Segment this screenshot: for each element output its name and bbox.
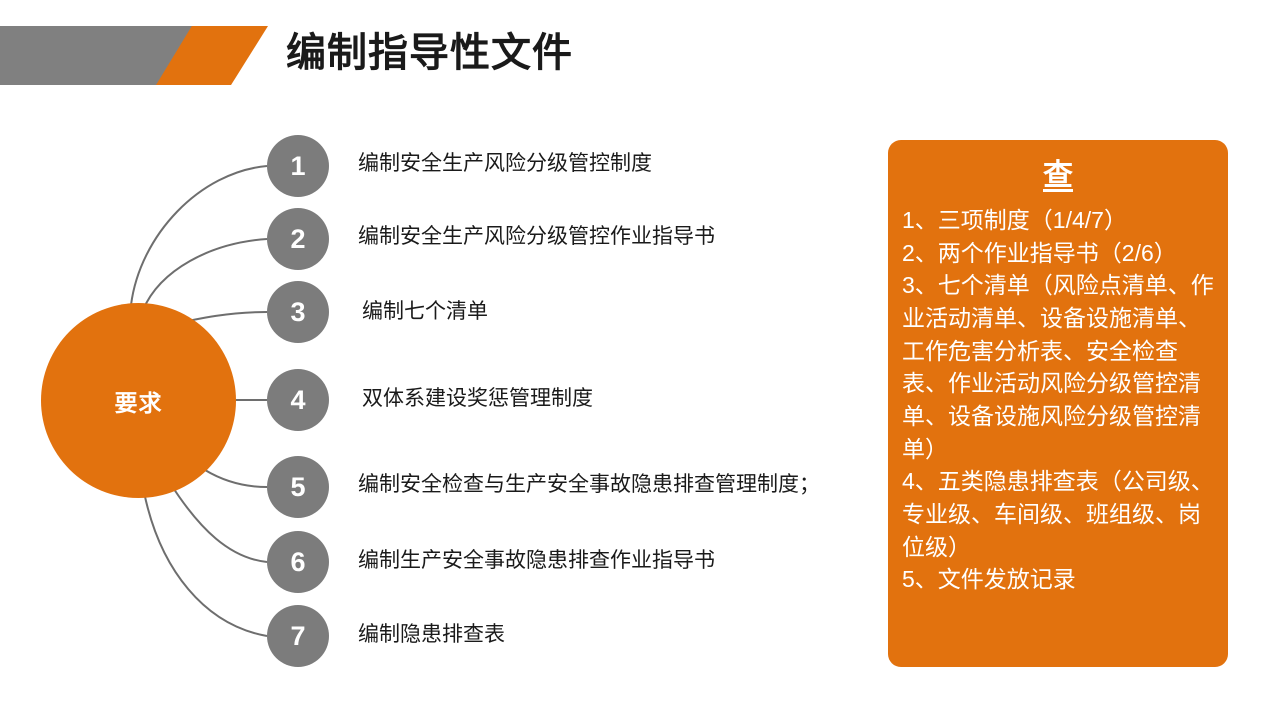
mindmap-node-circle[interactable]: 7 (267, 605, 329, 667)
mindmap-node-number: 5 (290, 474, 305, 501)
mindmap-hub-label: 要求 (115, 384, 163, 418)
connector-1 (131, 166, 267, 305)
mindmap-node-circle[interactable]: 1 (267, 135, 329, 197)
mindmap-node-circle[interactable]: 2 (267, 208, 329, 270)
mindmap-node-text: 编制七个清单 (362, 299, 488, 324)
page-title: 编制指导性文件 (286, 27, 573, 79)
mindmap-node-circle[interactable]: 6 (267, 531, 329, 593)
mindmap-node-circle[interactable]: 3 (267, 281, 329, 343)
mindmap-node-circle[interactable]: 5 (267, 456, 329, 518)
mindmap-node-circle[interactable]: 4 (267, 369, 329, 431)
connector-7 (144, 492, 267, 636)
connector-6 (170, 483, 267, 562)
mindmap-node-number: 4 (290, 387, 305, 414)
mindmap-node-text: 编制安全生产风险分级管控作业指导书 (358, 224, 715, 249)
mindmap-node-number: 7 (290, 623, 305, 650)
mindmap-node-number: 3 (290, 299, 305, 326)
mindmap-node-number: 6 (290, 549, 305, 576)
check-panel-body: 1、三项制度（1/4/7） 2、两个作业指导书（2/6） 3、七个清单（风险点清… (902, 204, 1214, 596)
mindmap-node-number: 1 (290, 153, 305, 180)
connector-5 (205, 470, 267, 487)
check-panel-title: 查 (902, 158, 1214, 194)
mindmap-node-text: 编制安全生产风险分级管控制度 (358, 151, 652, 176)
mindmap-hub-circle[interactable]: 要求 (41, 303, 236, 498)
mindmap-node-text: 编制安全检查与生产安全事故隐患排查管理制度； (358, 472, 820, 497)
mindmap-node-number: 2 (290, 226, 305, 253)
mindmap-node-text: 双体系建设奖惩管理制度 (362, 386, 593, 411)
mindmap-node-text: 编制生产安全事故隐患排查作业指导书 (358, 548, 715, 573)
connector-2 (143, 239, 267, 310)
mindmap-node-text: 编制隐患排查表 (358, 622, 505, 647)
check-panel: 查 1、三项制度（1/4/7） 2、两个作业指导书（2/6） 3、七个清单（风险… (888, 140, 1228, 667)
header-banner (0, 26, 300, 85)
